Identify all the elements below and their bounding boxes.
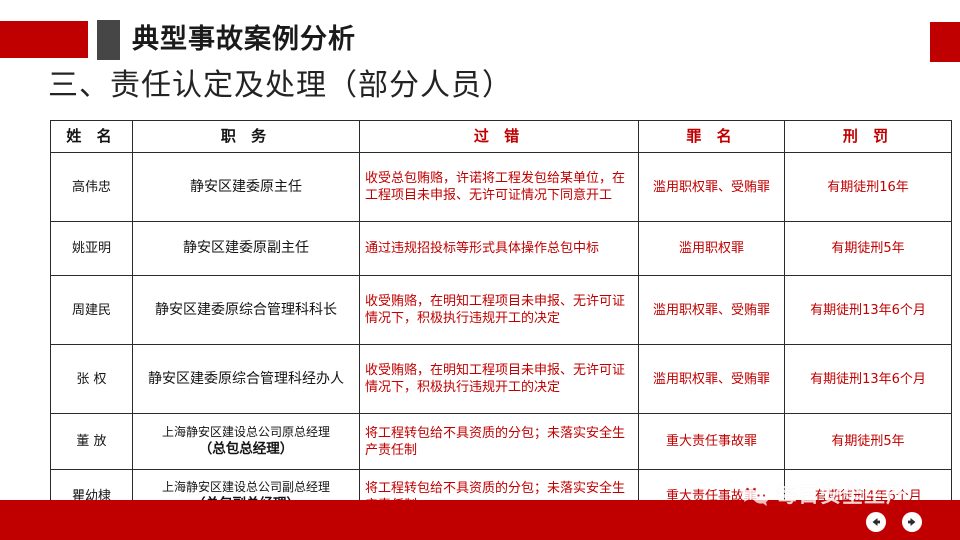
cell-crime: 滥用职权罪、受贿罪 xyxy=(639,276,785,345)
cell-penalty: 有期徒刑13年6个月 xyxy=(785,345,952,414)
watermark-text: 每日安全生产 xyxy=(776,479,908,509)
cell-post: 静安区建委原综合管理科科长 xyxy=(133,276,360,345)
cell-name: 周建民 xyxy=(51,276,133,345)
table-header-row: 姓 名 职 务 过 错 罪 名 刑 罚 xyxy=(51,121,952,153)
cell-post: 静安区建委原副主任 xyxy=(133,222,360,276)
cell-name: 张 权 xyxy=(51,345,133,414)
column-header-crime: 罪 名 xyxy=(639,121,785,153)
cell-penalty: 有期徒刑5年 xyxy=(785,222,952,276)
responsibility-table-wrapper: 姓 名 职 务 过 错 罪 名 刑 罚 高伟忠 静安区建委原主任 收受总包贿赂，… xyxy=(50,120,910,524)
header-gray-accent-block xyxy=(97,20,120,60)
cell-post-main: 静安区建委原综合管理科经办人 xyxy=(138,370,354,389)
cell-fault: 将工程转包给不具资质的分包；未落实安全生产责任制 xyxy=(360,414,639,470)
cell-fault: 通过违规招投标等形式具体操作总包中标 xyxy=(360,222,639,276)
column-header-name: 姓 名 xyxy=(51,121,133,153)
table-row: 张 权 静安区建委原综合管理科经办人 收受贿赂，在明知工程项目未申报、无许可证情… xyxy=(51,345,952,414)
arrow-right-icon[interactable] xyxy=(902,512,922,532)
cell-post-main: 静安区建委原副主任 xyxy=(138,239,354,258)
cell-name: 董 放 xyxy=(51,414,133,470)
slide-canvas: 典型事故案例分析 三、责任认定及处理（部分人员） 姓 名 职 务 过 错 罪 名… xyxy=(0,0,960,540)
header-red-accent-block xyxy=(0,21,88,58)
cell-crime: 滥用职权罪、受贿罪 xyxy=(639,345,785,414)
cell-post: 静安区建委原综合管理科经办人 xyxy=(133,345,360,414)
header-red-accent-right xyxy=(930,22,960,62)
cell-post-sub: （总包总经理） xyxy=(138,440,354,458)
cell-penalty: 有期徒刑5年 xyxy=(785,414,952,470)
column-header-penalty: 刑 罚 xyxy=(785,121,952,153)
cell-fault: 收受总包贿赂，许诺将工程发包给某单位，在工程项目未申报、无许可证情况下同意开工 xyxy=(360,153,639,222)
cell-post-main: 静安区建委原主任 xyxy=(138,178,354,197)
cell-post: 上海静安区建设总公司原总经理 （总包总经理） xyxy=(133,414,360,470)
watermark: 每日安全生产 xyxy=(740,479,908,509)
cell-name: 姚亚明 xyxy=(51,222,133,276)
column-header-fault: 过 错 xyxy=(360,121,639,153)
table-body: 高伟忠 静安区建委原主任 收受总包贿赂，许诺将工程发包给某单位，在工程项目未申报… xyxy=(51,153,952,524)
table-row: 高伟忠 静安区建委原主任 收受总包贿赂，许诺将工程发包给某单位，在工程项目未申报… xyxy=(51,153,952,222)
page-title: 典型事故案例分析 xyxy=(132,22,356,58)
cell-crime: 滥用职权罪、受贿罪 xyxy=(639,153,785,222)
slide-navigation xyxy=(866,512,922,532)
arrow-left-icon[interactable] xyxy=(866,512,886,532)
table-row: 周建民 静安区建委原综合管理科科长 收受贿赂，在明知工程项目未申报、无许可证情况… xyxy=(51,276,952,345)
cell-post: 静安区建委原主任 xyxy=(133,153,360,222)
cell-crime: 滥用职权罪 xyxy=(639,222,785,276)
cell-name: 高伟忠 xyxy=(51,153,133,222)
responsibility-table: 姓 名 职 务 过 错 罪 名 刑 罚 高伟忠 静安区建委原主任 收受总包贿赂，… xyxy=(50,120,952,524)
cell-penalty: 有期徒刑13年6个月 xyxy=(785,276,952,345)
table-row: 董 放 上海静安区建设总公司原总经理 （总包总经理） 将工程转包给不具资质的分包… xyxy=(51,414,952,470)
cell-crime: 重大责任事故罪 xyxy=(639,414,785,470)
wechat-logo-icon xyxy=(740,481,770,507)
table-row: 姚亚明 静安区建委原副主任 通过违规招投标等形式具体操作总包中标 滥用职权罪 有… xyxy=(51,222,952,276)
cell-penalty: 有期徒刑16年 xyxy=(785,153,952,222)
cell-post-main: 静安区建委原综合管理科科长 xyxy=(138,301,354,320)
cell-fault: 收受贿赂，在明知工程项目未申报、无许可证情况下，积极执行违规开工的决定 xyxy=(360,345,639,414)
cell-post-main: 上海静安区建设总公司原总经理 xyxy=(138,425,354,440)
table-header: 姓 名 职 务 过 错 罪 名 刑 罚 xyxy=(51,121,952,153)
column-header-post: 职 务 xyxy=(133,121,360,153)
cell-post-main: 上海静安区建设总公司副总经理 xyxy=(138,480,354,495)
cell-fault: 收受贿赂，在明知工程项目未申报、无许可证情况下，积极执行违规开工的决定 xyxy=(360,276,639,345)
page-subtitle: 三、责任认定及处理（部分人员） xyxy=(48,66,513,106)
